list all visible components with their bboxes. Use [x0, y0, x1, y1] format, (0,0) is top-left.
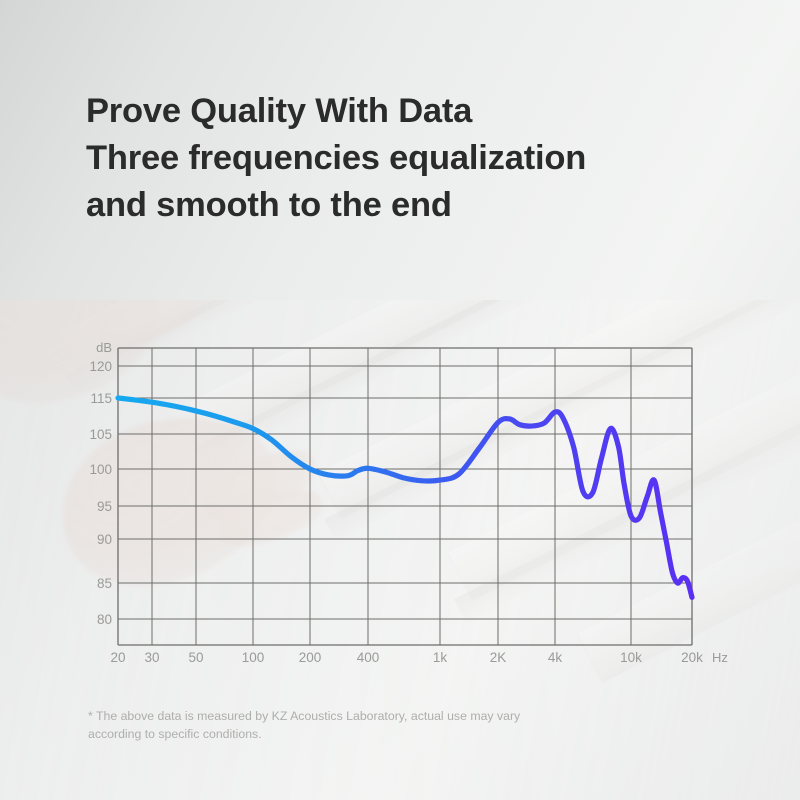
x-axis-tick-label: 20k — [681, 650, 703, 665]
piano-key-shadow — [65, 300, 493, 393]
x-axis-tick-label: 10k — [620, 650, 642, 665]
piano-key-shadow — [325, 300, 800, 541]
x-axis-tick-label: 50 — [188, 650, 203, 665]
x-axis-tick-label: 200 — [299, 650, 322, 665]
y-axis-tick-label: 115 — [90, 391, 112, 406]
y-axis-tick-label: 85 — [97, 576, 112, 591]
x-axis-tick-label: 2K — [490, 650, 507, 665]
y-axis-tick-label: 120 — [89, 359, 112, 374]
chart-gridlines — [118, 348, 692, 645]
piano-key — [189, 300, 674, 445]
piano-key-shadow — [454, 327, 800, 623]
chart-footnote: * The above data is measured by KZ Acous… — [88, 707, 668, 743]
piano-key — [0, 300, 333, 302]
x-axis-tick-labels: 2030501002004001k2K4k10k20k — [110, 650, 703, 665]
hand-silhouette — [0, 300, 169, 413]
piano-key-shadow — [0, 300, 327, 319]
piano-key — [60, 300, 500, 373]
piano-key — [578, 351, 800, 681]
y-axis-tick-label: 105 — [89, 427, 112, 442]
x-axis-tick-label: 100 — [242, 650, 265, 665]
x-axis-tick-label: 1k — [433, 650, 448, 665]
finger-silhouette — [211, 480, 329, 556]
y-axis-tick-label: 90 — [97, 532, 112, 547]
x-axis-tick-label: 400 — [357, 650, 380, 665]
y-axis-tick-label: 100 — [89, 462, 112, 477]
piano-key — [319, 300, 800, 517]
piano-key-shadow — [195, 300, 668, 467]
x-axis-unit-label: Hz — [712, 650, 728, 665]
frequency-response-curve — [118, 398, 692, 597]
y-axis-tick-labels: 12011510510095908580 — [89, 359, 112, 627]
piano-key — [448, 300, 800, 599]
hand-silhouette — [44, 396, 296, 604]
y-axis-unit-label: dB — [96, 340, 112, 355]
y-axis-tick-label: 80 — [97, 612, 112, 627]
x-axis-tick-label: 20 — [110, 650, 125, 665]
finger-silhouette — [195, 438, 326, 534]
x-axis-tick-label: 4k — [548, 650, 563, 665]
y-axis-tick-label: 95 — [97, 499, 112, 514]
finger-silhouette — [91, 300, 220, 362]
x-axis-tick-label: 30 — [144, 650, 159, 665]
page-title: Prove Quality With Data Three frequencie… — [86, 88, 746, 229]
